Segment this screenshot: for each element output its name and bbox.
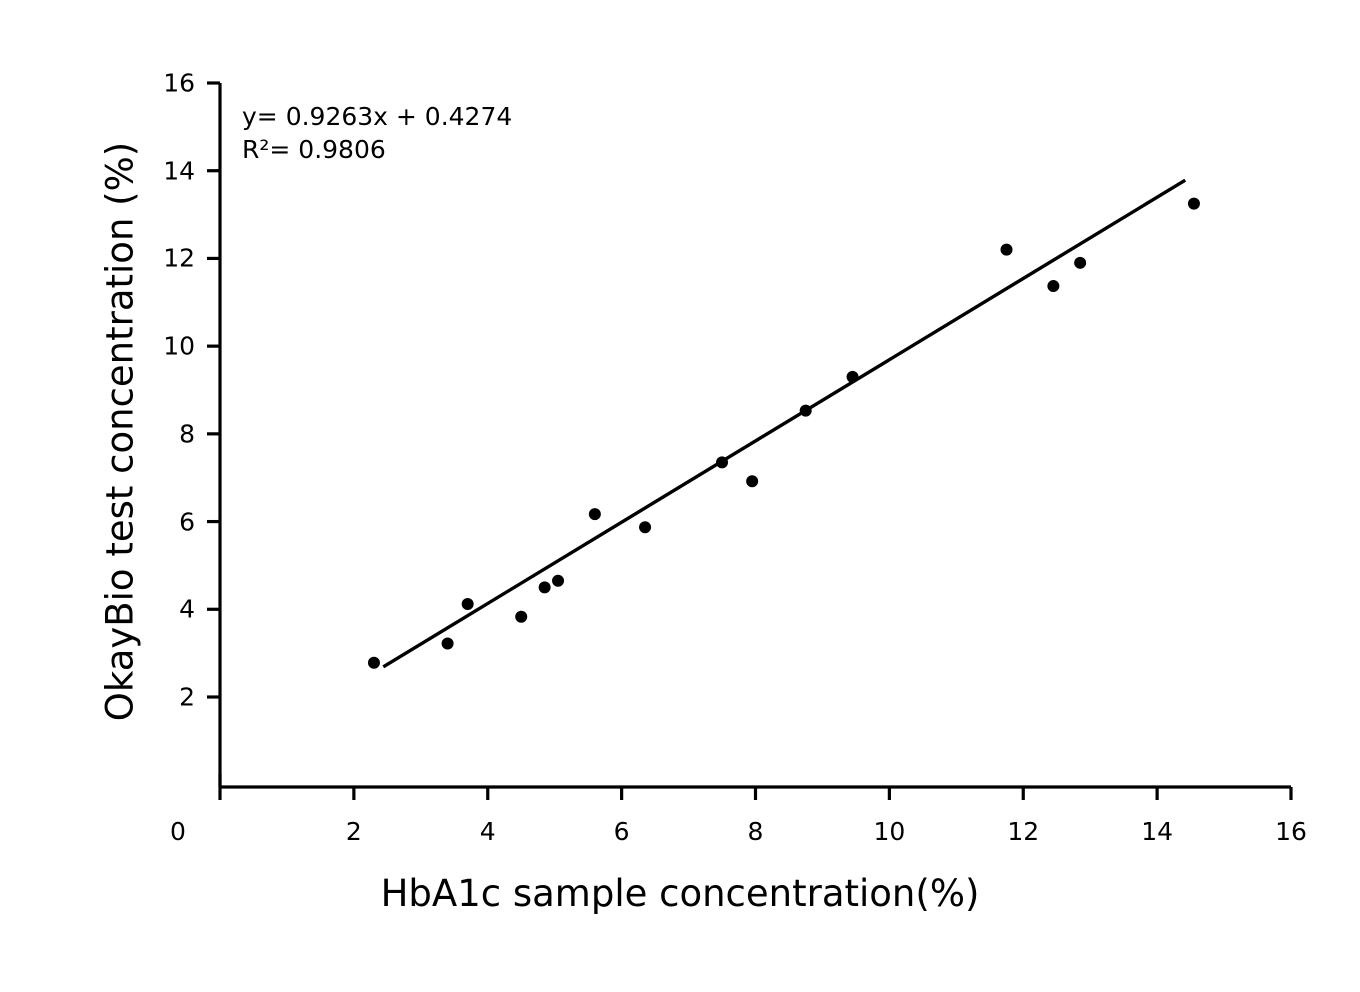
- regression-annotation: y= 0.9263x + 0.4274 R²= 0.9806: [242, 100, 512, 166]
- data-point: [368, 657, 380, 669]
- x-axis-title: HbA1c sample concentration(%): [0, 872, 1360, 915]
- data-point: [539, 581, 551, 593]
- x-axis-tick-label: 12: [1007, 817, 1039, 846]
- data-point: [716, 456, 728, 468]
- data-point: [1001, 244, 1013, 256]
- y-axis-tick-label: 6: [129, 507, 195, 536]
- y-axis-tick-label: 16: [129, 69, 195, 98]
- data-point: [462, 598, 474, 610]
- data-point: [639, 521, 651, 533]
- data-point: [1188, 198, 1200, 210]
- x-axis-tick-label: 14: [1141, 817, 1173, 846]
- data-point: [515, 611, 527, 623]
- scatter-chart: OkayBio test concentration (%) HbA1c sam…: [0, 0, 1360, 992]
- y-axis-tick-label: 12: [129, 244, 195, 273]
- y-axis-tick-label: 14: [129, 156, 195, 185]
- data-point: [800, 405, 812, 417]
- x-axis-tick-label: 8: [748, 817, 764, 846]
- x-axis-tick-label: 10: [873, 817, 905, 846]
- data-point: [1047, 280, 1059, 292]
- y-axis-tick-label: 2: [129, 683, 195, 712]
- trendline: [383, 180, 1185, 667]
- x-axis-tick-label: 16: [1275, 817, 1307, 846]
- y-axis-tick-label: 4: [129, 595, 195, 624]
- data-point: [442, 637, 454, 649]
- regression-r-squared: R²= 0.9806: [242, 133, 512, 166]
- y-axis-tick-label: 8: [129, 419, 195, 448]
- x-axis-tick-label: 0: [170, 817, 186, 846]
- y-axis-tick-label: 10: [129, 332, 195, 361]
- data-point: [589, 508, 601, 520]
- data-point: [1074, 257, 1086, 269]
- data-point: [847, 371, 859, 383]
- data-point: [746, 475, 758, 487]
- data-point: [552, 575, 564, 587]
- x-axis-tick-label: 4: [480, 817, 496, 846]
- regression-equation: y= 0.9263x + 0.4274: [242, 100, 512, 133]
- x-axis-tick-label: 6: [614, 817, 630, 846]
- x-axis-tick-label: 2: [346, 817, 362, 846]
